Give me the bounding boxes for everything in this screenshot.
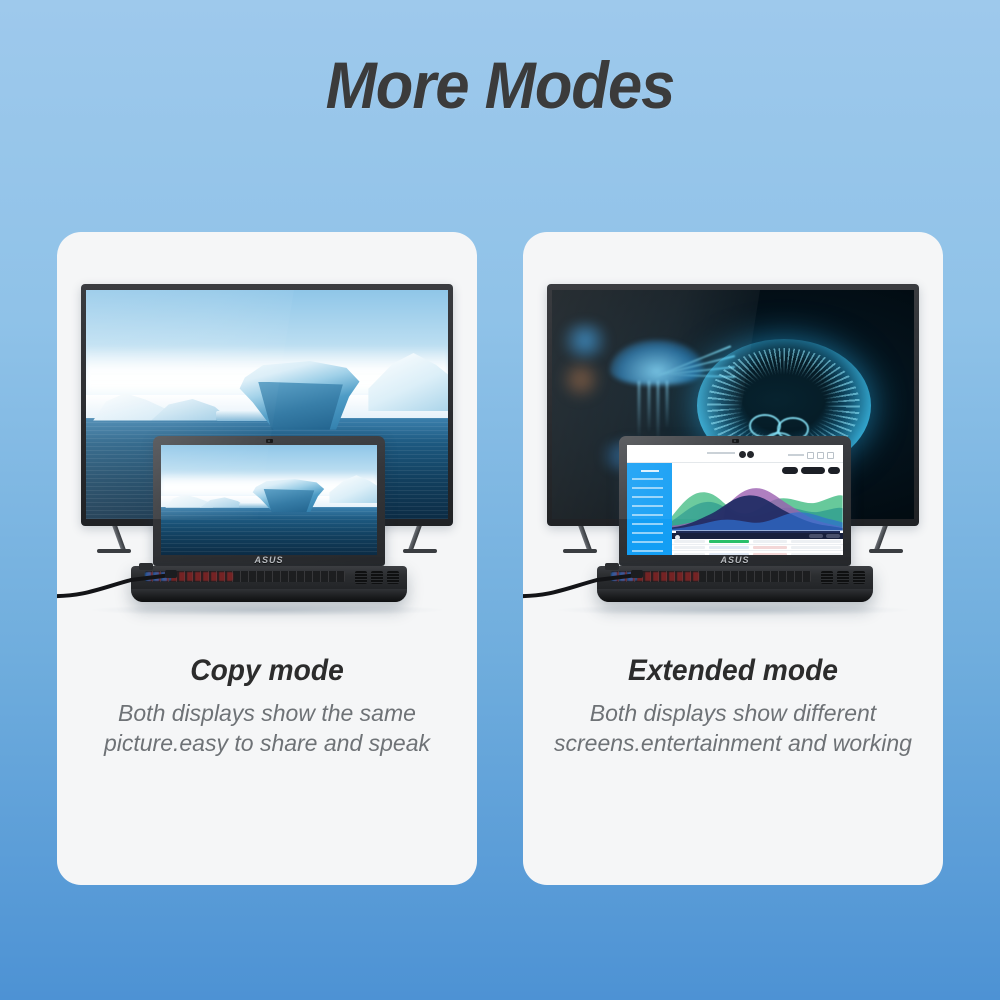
area-chart [672, 475, 843, 531]
user-icon[interactable] [827, 452, 834, 459]
mode-card-copy: ASUS Copy mode Both displays show the sa… [57, 232, 477, 885]
promo-page: More Modes [0, 0, 1000, 1000]
device-stage-extended: ASUS [523, 232, 943, 632]
caption-body: Both displays show the same picture.easy… [57, 698, 477, 759]
laptop-lid: ASUS [619, 436, 851, 566]
device-stage-copy: ASUS [57, 232, 477, 632]
laptop-screen-iceberg [161, 445, 377, 555]
dashboard-sidebar[interactable] [627, 463, 672, 556]
table-header [672, 533, 843, 539]
iceberg-scene-mirrored [161, 445, 377, 555]
laptop-extended: ASUS [619, 436, 851, 602]
header-icon-one[interactable] [739, 451, 746, 458]
hdmi-cable-copy [57, 566, 179, 606]
page-title: More Modes [35, 47, 965, 123]
laptop-copy: ASUS [153, 436, 385, 602]
analytics-dashboard [627, 445, 843, 555]
hdmi-cable-extended [523, 566, 645, 606]
header-actions[interactable] [788, 452, 834, 459]
laptop-brand-logo: ASUS [619, 555, 851, 565]
laptop-lid: ASUS [153, 436, 385, 566]
caption-title: Copy mode [70, 654, 465, 688]
jellyfish-small [610, 340, 704, 441]
dashboard-content [672, 463, 843, 556]
caption-body: Both displays show different screens.ent… [523, 698, 943, 759]
mode-card-extended: ASUS Extended mode Both displays show di… [523, 232, 943, 885]
settings-icon[interactable] [817, 452, 824, 459]
caption-copy: Copy mode Both displays show the same pi… [57, 654, 477, 759]
dashboard-header [627, 445, 843, 463]
chart-filter-buttons[interactable] [782, 467, 840, 474]
laptop-brand-logo: ASUS [153, 555, 385, 565]
home-icon[interactable] [807, 452, 814, 459]
data-table [672, 533, 843, 555]
header-icon-two[interactable] [747, 451, 754, 458]
laptop-screen-dashboard [627, 445, 843, 555]
webcam-icon [732, 439, 739, 443]
webcam-icon [266, 439, 273, 443]
caption-extended: Extended mode Both displays show differe… [523, 654, 943, 759]
caption-title: Extended mode [536, 654, 931, 688]
